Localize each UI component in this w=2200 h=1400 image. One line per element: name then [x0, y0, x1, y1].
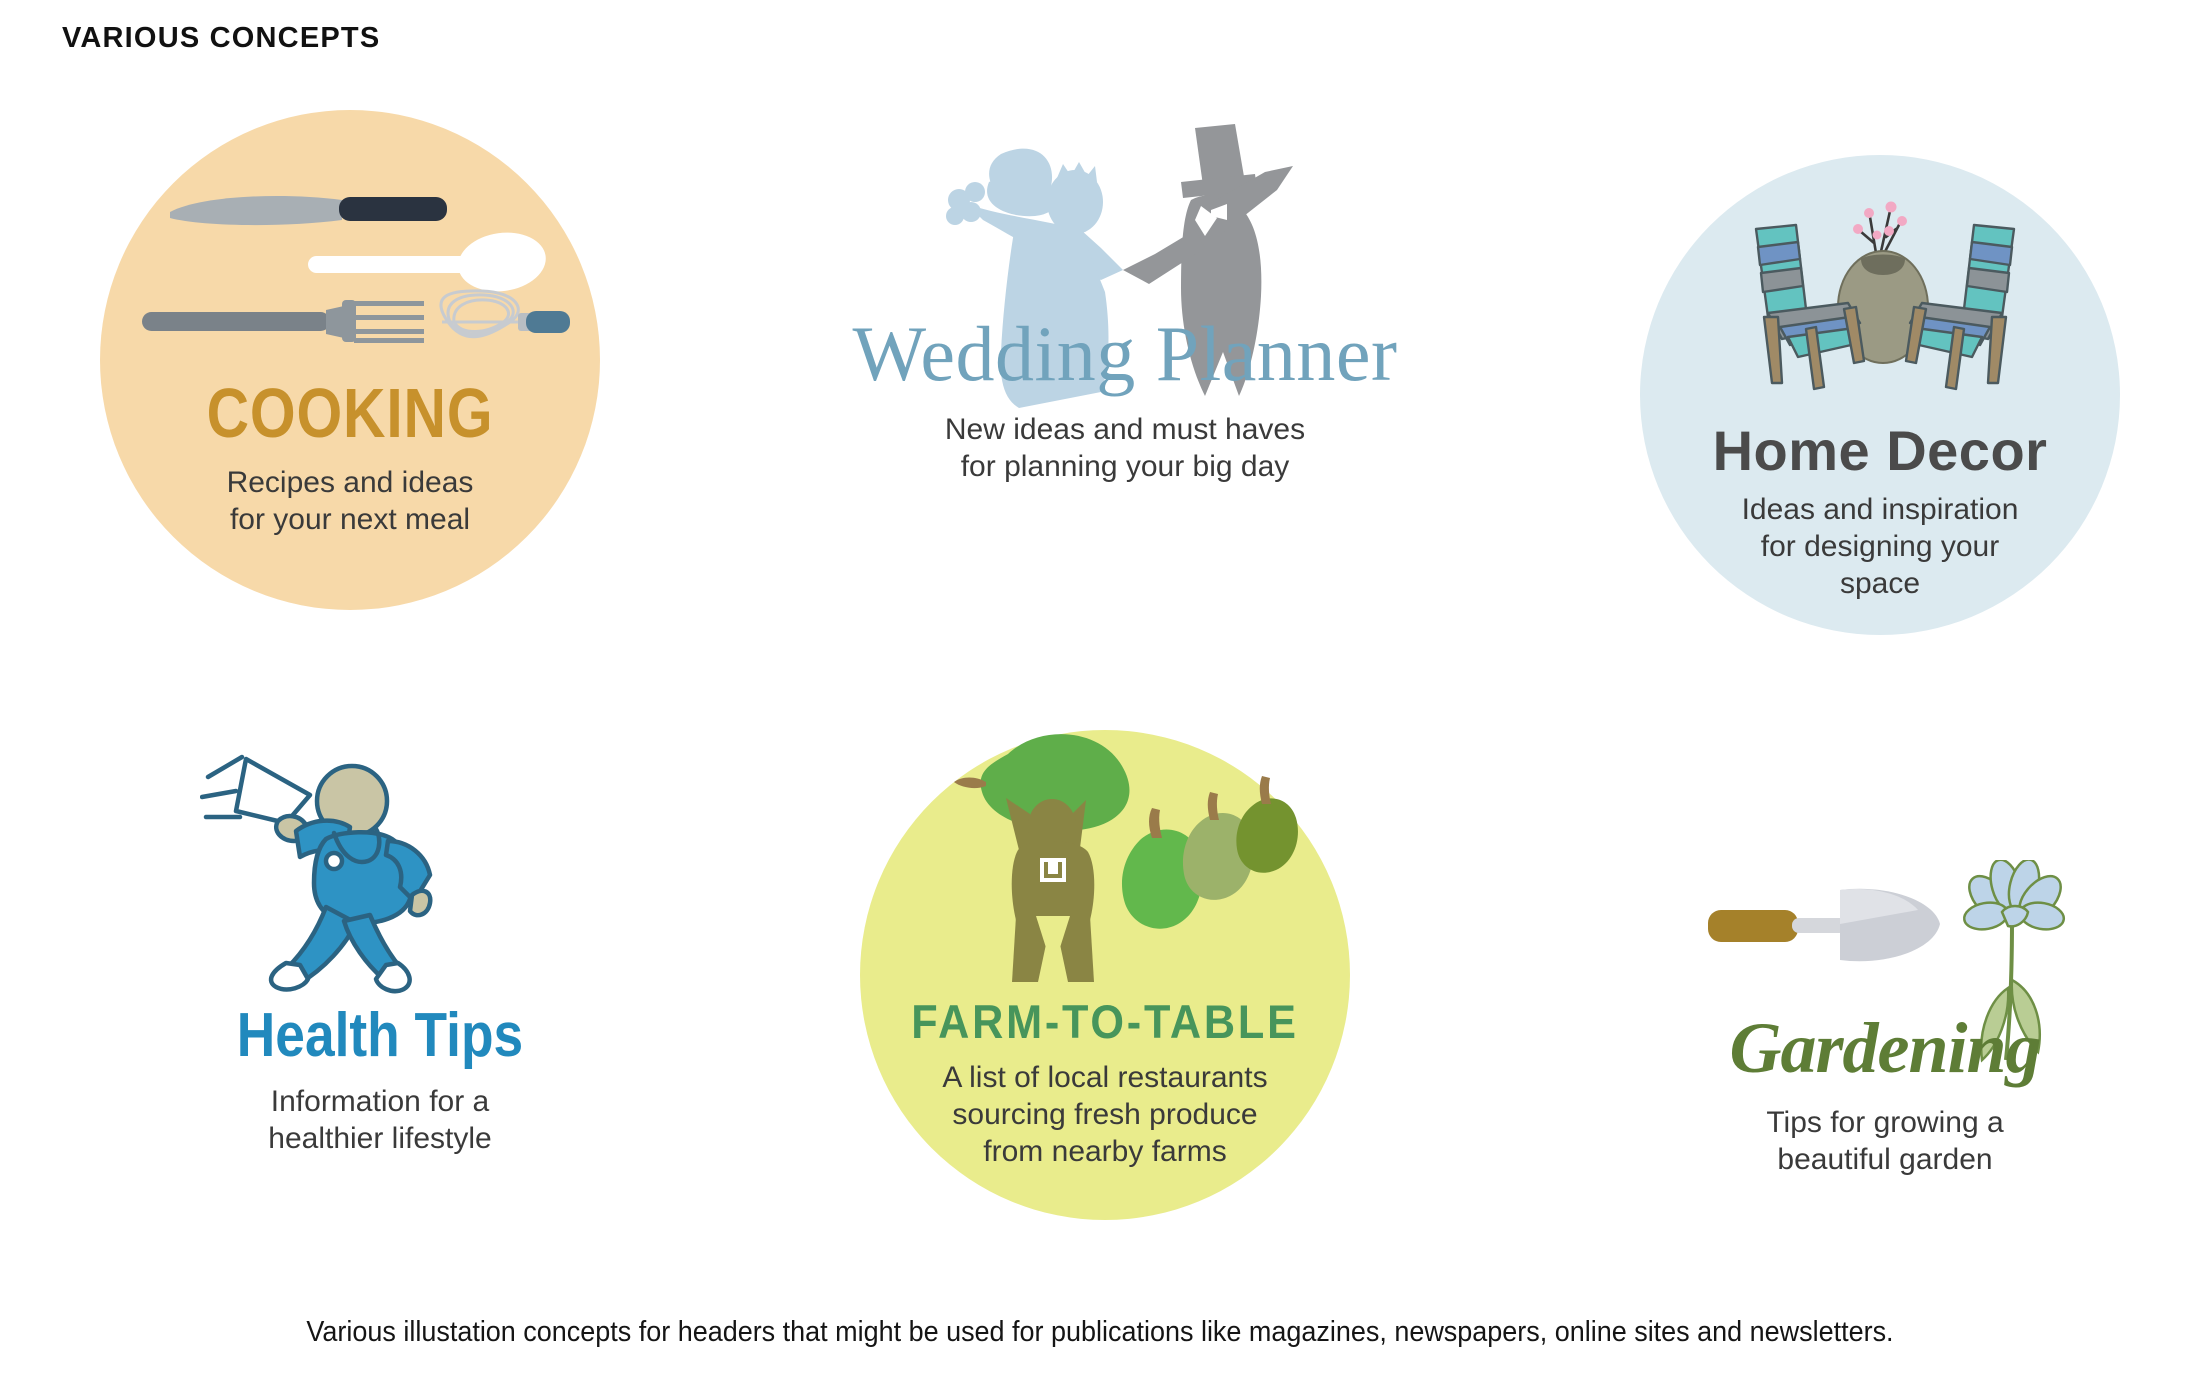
farm-to-table-title: FARM-TO-TABLE	[880, 998, 1331, 1045]
farm-to-table-subtitle-line2: sourcing fresh produce	[860, 1096, 1350, 1133]
health-tips-subtitle-line1: Information for a	[170, 1083, 590, 1120]
cooking-subtitle-line2: for your next meal	[100, 501, 600, 538]
concept-card-wedding[interactable]: Wedding Planner New ideas and must haves…	[845, 120, 1405, 640]
home-decor-title: Home Decor	[1640, 423, 2120, 479]
wedding-title: Wedding Planner	[845, 315, 1405, 393]
home-decor-subtitle-line1: Ideas and inspiration	[1640, 491, 2120, 528]
home-decor-text-block: Home Decor Ideas and inspiration for des…	[1640, 423, 2120, 603]
concept-card-health-tips[interactable]: Health Tips Information for a healthier …	[170, 735, 590, 1175]
farm-to-table-text-block: FARM-TO-TABLE A list of local restaurant…	[860, 998, 1350, 1171]
health-tips-subtitle-line2: healthier lifestyle	[170, 1120, 590, 1157]
gardening-title: Gardening	[1640, 1012, 2130, 1084]
doctor-with-megaphone-icon	[200, 735, 540, 1005]
concept-card-home-decor[interactable]: Home Decor Ideas and inspiration for des…	[1640, 155, 2120, 635]
cooking-title: COOKING	[140, 378, 560, 448]
concept-card-farm-to-table[interactable]: FARM-TO-TABLE A list of local restaurant…	[860, 730, 1350, 1220]
farm-to-table-subtitle-line1: A list of local restaurants	[860, 1059, 1350, 1096]
gardening-subtitle-line1: Tips for growing a	[1640, 1104, 2130, 1141]
footer-caption: Various illustation concepts for headers…	[77, 1316, 2123, 1349]
gardening-subtitle-line2: beautiful garden	[1640, 1141, 2130, 1178]
concept-card-cooking[interactable]: COOKING Recipes and ideas for your next …	[100, 110, 600, 610]
chairs-and-vase-icon	[1720, 177, 2050, 402]
wedding-subtitle-line2: for planning your big day	[845, 448, 1405, 485]
cooking-text-block: COOKING Recipes and ideas for your next …	[100, 378, 600, 538]
wedding-subtitle-line1: New ideas and must haves	[845, 411, 1405, 448]
cooking-utensils-icon	[130, 170, 570, 390]
concept-card-gardening[interactable]: Gardening Tips for growing a beautiful g…	[1640, 860, 2130, 1190]
wedding-text-block: Wedding Planner New ideas and must haves…	[845, 315, 1405, 485]
cooking-subtitle-line1: Recipes and ideas	[100, 464, 600, 501]
home-decor-subtitle-line3: space	[1640, 565, 2120, 602]
farmer-with-pears-icon	[890, 710, 1320, 1010]
health-tips-title: Health Tips	[199, 1005, 560, 1067]
page-title: VARIOUS CONCEPTS	[62, 22, 380, 55]
home-decor-subtitle-line2: for designing your	[1640, 528, 2120, 565]
gardening-text-block: Gardening Tips for growing a beautiful g…	[1640, 1012, 2130, 1178]
health-tips-text-block: Health Tips Information for a healthier …	[170, 1005, 590, 1157]
farm-to-table-subtitle-line3: from nearby farms	[860, 1133, 1350, 1170]
